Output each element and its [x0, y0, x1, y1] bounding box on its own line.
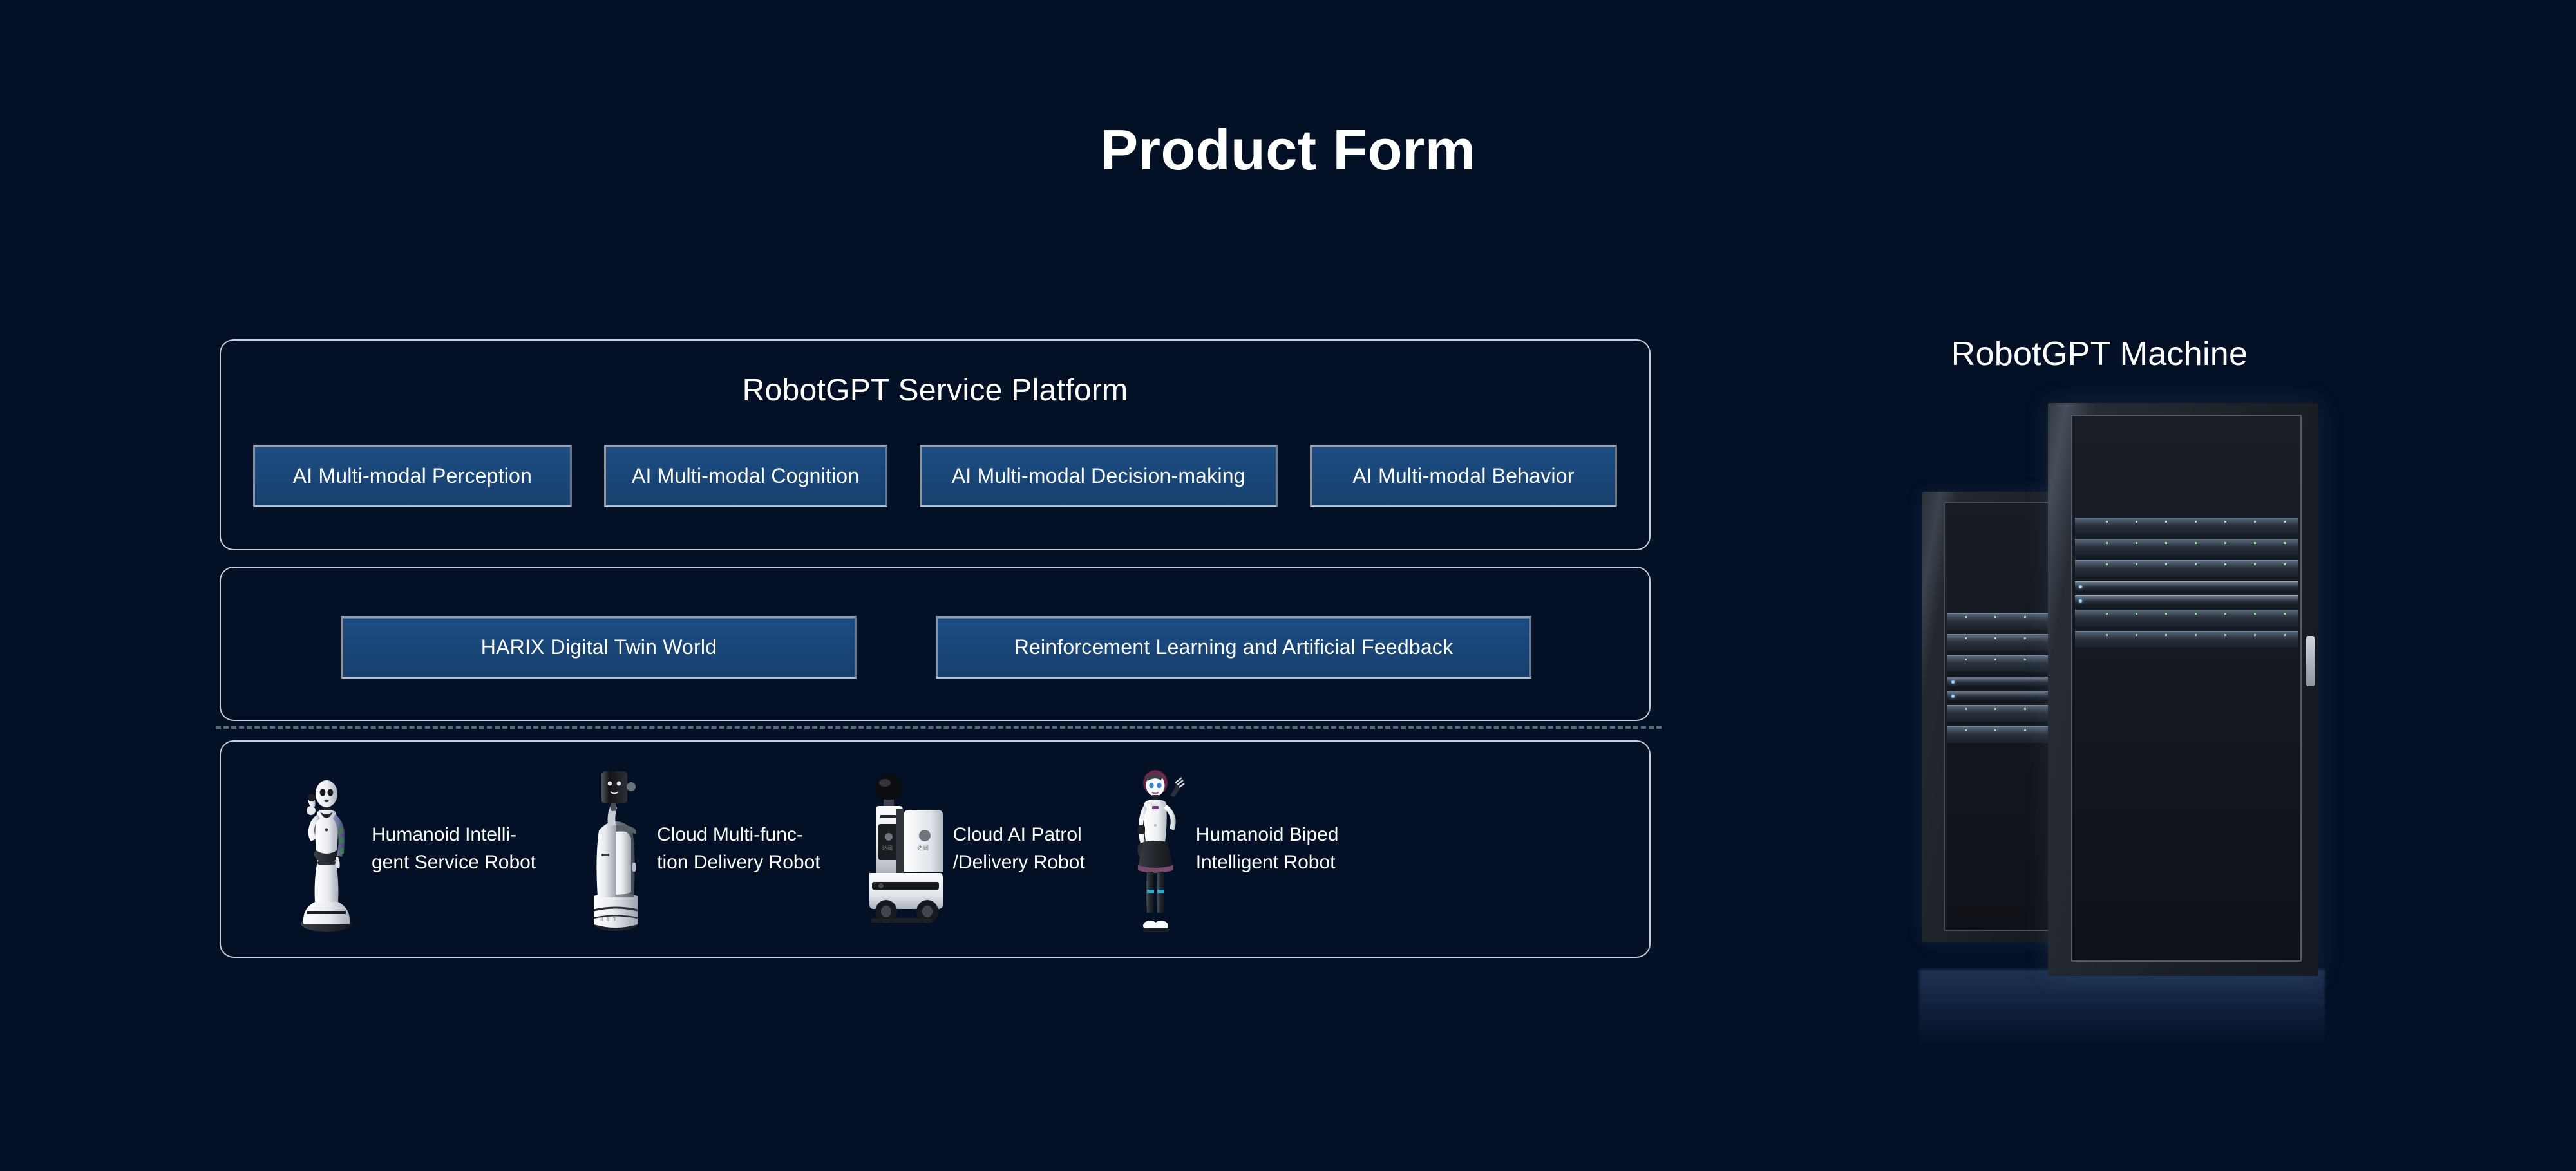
chip-ai-multimodal-cognition[interactable]: AI Multi-modal Cognition: [604, 445, 887, 507]
biped-humanoid-robot-icon: [1125, 763, 1186, 935]
page-title: Product Form: [0, 117, 2576, 183]
server-cabinet-front: [2048, 403, 2318, 976]
cabinet-inner-panel: [2071, 415, 2302, 962]
cloud-delivery-robot-icon: 8 8 3: [585, 766, 647, 932]
platform-heading: RobotGPT Service Platform: [221, 341, 1649, 408]
server-blade: [2075, 581, 2298, 591]
svg-text:达闼: 达闼: [917, 844, 929, 851]
platform-diagram: RobotGPT Service Platform AI Multi-modal…: [220, 339, 1651, 958]
section-divider: [216, 726, 1662, 729]
service-platform-panel: RobotGPT Service Platform AI Multi-modal…: [220, 339, 1651, 550]
foundation-chip-row: HARIX Digital Twin World Reinforcement L…: [221, 616, 1649, 679]
chip-ai-multimodal-perception[interactable]: AI Multi-modal Perception: [253, 445, 572, 507]
chip-reinforcement-learning-feedback[interactable]: Reinforcement Learning and Artificial Fe…: [936, 616, 1531, 679]
server-blade: [2075, 631, 2298, 648]
patrol-delivery-robot-icon: 达闼 达闼: [860, 769, 943, 930]
svg-text:达闼: 达闼: [882, 845, 893, 851]
list-item[interactable]: Humanoid Biped Intelligent Robot: [1125, 763, 1339, 935]
machine-title: RobotGPT Machine: [1855, 335, 2344, 373]
list-item[interactable]: Humanoid Intelli- gent Service Robot: [292, 765, 536, 933]
chip-harix-digital-twin-world[interactable]: HARIX Digital Twin World: [341, 616, 857, 679]
robot-products-panel: Humanoid Intelli- gent Service Robot: [220, 740, 1651, 958]
foundation-panel: HARIX Digital Twin World Reinforcement L…: [220, 567, 1651, 721]
chip-ai-multimodal-behavior[interactable]: AI Multi-modal Behavior: [1310, 445, 1617, 507]
blade-stack: [2075, 518, 2298, 652]
list-item[interactable]: 达闼 达闼: [860, 769, 1085, 930]
robot-list: Humanoid Intelli- gent Service Robot: [221, 742, 1649, 957]
cabinet-door-handle[interactable]: [2306, 636, 2315, 686]
list-item[interactable]: 8 8 3: [585, 766, 820, 932]
list-item-label: Cloud AI Patrol /Delivery Robot: [953, 821, 1085, 876]
machine-reflection: [1919, 970, 2325, 1047]
list-item-label: Humanoid Intelli- gent Service Robot: [372, 821, 536, 876]
list-item-label: Cloud Multi-func- tion Delivery Robot: [657, 821, 820, 876]
machine-section: RobotGPT Machine: [1855, 335, 2344, 995]
server-blade: [2075, 560, 2298, 577]
chip-ai-multimodal-decision-making[interactable]: AI Multi-modal Decision-making: [920, 445, 1278, 507]
capability-chip-row: AI Multi-modal Perception AI Multi-modal…: [221, 445, 1649, 507]
server-blade: [2075, 518, 2298, 534]
server-blade: [2075, 610, 2298, 626]
humanoid-service-robot-icon: [292, 765, 361, 933]
server-blade: [2075, 595, 2298, 605]
list-item-label: Humanoid Biped Intelligent Robot: [1196, 821, 1339, 876]
svg-text:8 8 3: 8 8 3: [600, 917, 616, 923]
server-rack-icon: [1855, 397, 2344, 995]
server-blade: [2075, 539, 2298, 556]
